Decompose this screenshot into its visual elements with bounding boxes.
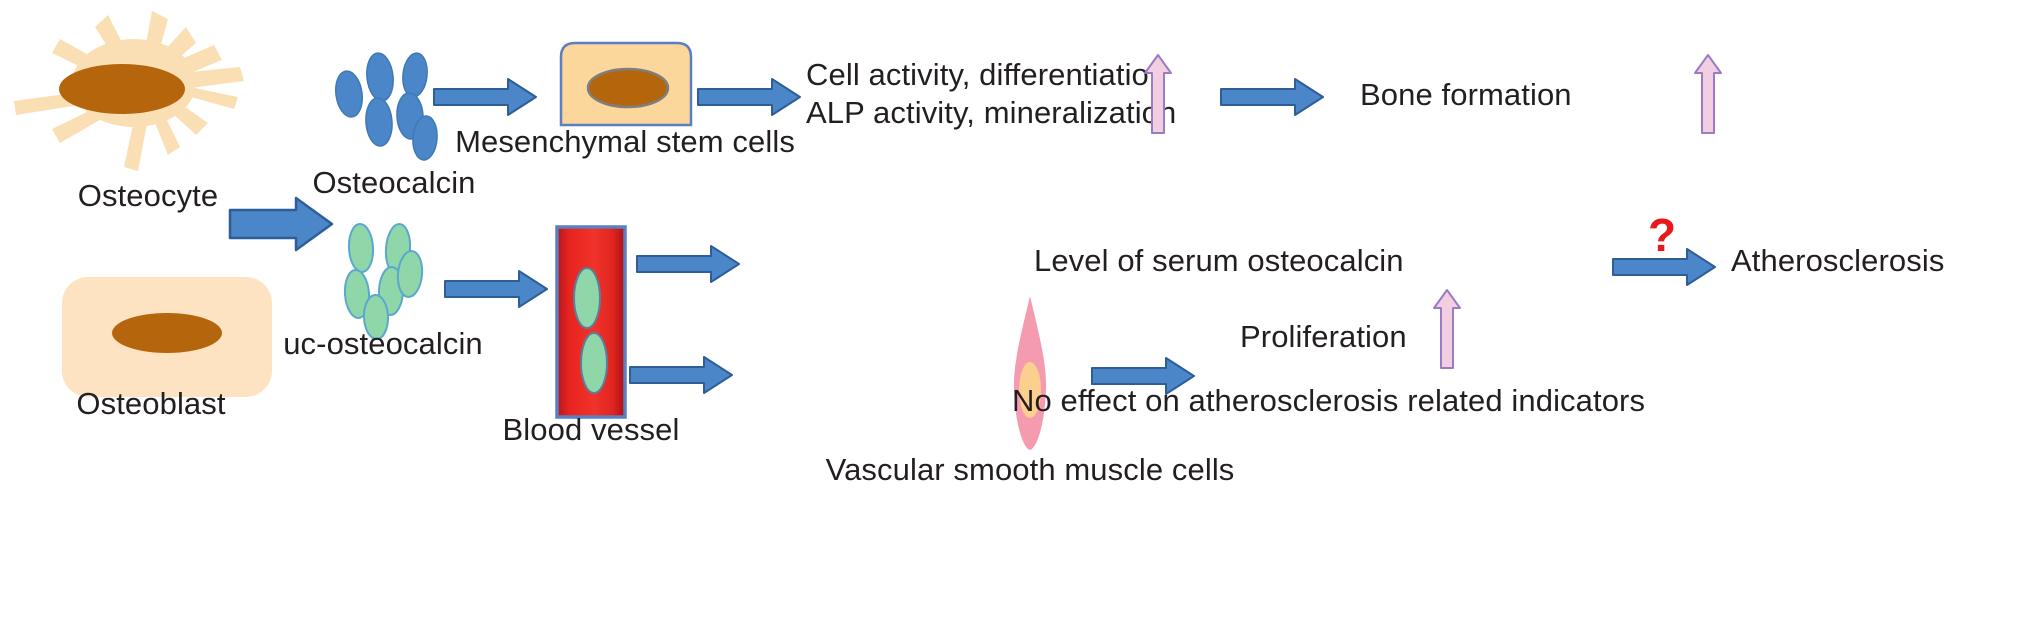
vascular-smooth-muscle-cells-label: Vascular smooth muscle cells <box>826 452 1235 489</box>
proliferation-label: Proliferation <box>1240 319 1407 356</box>
osteocyte-label: Osteocyte <box>78 178 218 215</box>
figure-canvas: Osteocyte Osteoblast Osteocalcin <box>0 0 2032 638</box>
level-of-serum-osteocalcin-label: Level of serum osteocalcin <box>1034 243 1404 280</box>
arrow-osteocyte-to-osteocalcin <box>228 196 334 252</box>
mesenchymal-stem-cells-label: Mesenchymal stem cells <box>455 124 795 161</box>
vascular-smooth-muscle-cell-icon <box>1000 294 1060 452</box>
bone-formation-label: Bone formation <box>1360 77 1572 114</box>
osteocyte-star-cell-icon <box>0 5 270 175</box>
blood-vessel-icon <box>554 224 628 420</box>
arrow-vessel-to-vsmc <box>628 354 734 396</box>
osteoblast-rounded-cell-icon <box>60 275 275 400</box>
mesenchymal-stem-cell-icon <box>559 41 693 127</box>
cell-activity-differentiation-text: Cell activity, differentiation <box>806 57 1166 94</box>
osteocalcin-label: Osteocalcin <box>312 165 475 202</box>
osteoblast-label: Osteoblast <box>76 386 225 423</box>
arrow-ucosteocalcin-to-vessel <box>443 268 549 310</box>
uc-osteocalcin-green-vesicles-icon <box>337 222 442 332</box>
arrow-to-atherosclerosis <box>1611 246 1717 288</box>
alp-activity-mineralization-text: ALP activity, mineralization <box>806 95 1176 132</box>
no-effect-on-atherosclerosis-label: No effect on atherosclerosis related ind… <box>1012 383 1645 420</box>
increase-arrow-icon-1 <box>1143 53 1175 135</box>
arrow-osteocalcin-to-msc <box>432 76 538 118</box>
blood-vessel-label: Blood vessel <box>503 412 680 449</box>
increase-arrow-icon-2 <box>1693 53 1725 135</box>
atherosclerosis-label: Atherosclerosis <box>1731 243 1944 280</box>
arrow-vessel-to-serum-level <box>635 243 741 285</box>
uc-osteocalcin-label: uc-osteocalcin <box>283 326 483 363</box>
increase-arrow-icon-3 <box>1432 288 1464 370</box>
arrow-msc-to-effects <box>696 76 802 118</box>
osteocalcin-blue-vesicles-icon <box>333 50 443 155</box>
arrow-effects-to-bone-formation <box>1219 76 1325 118</box>
